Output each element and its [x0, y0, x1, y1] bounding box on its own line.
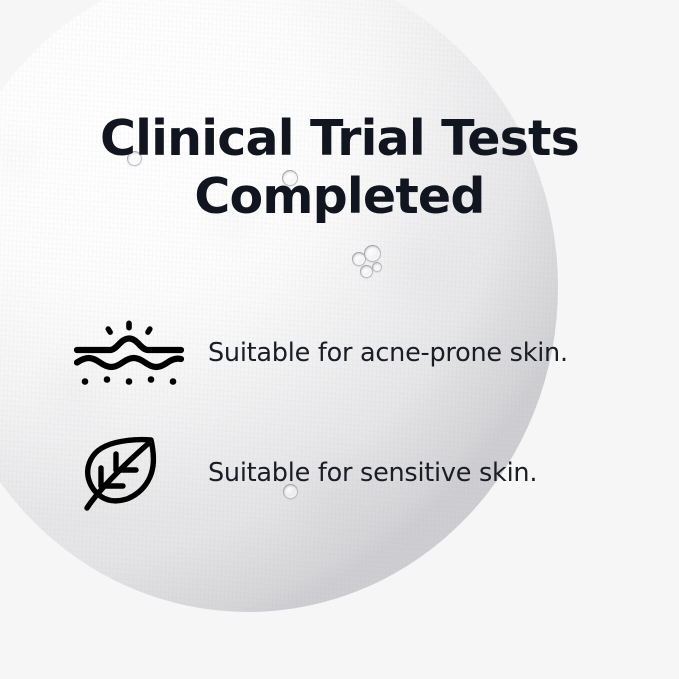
- headline-line-2: Completed: [0, 168, 679, 226]
- feature-label-acne-prone: Suitable for acne-prone skin.: [208, 338, 568, 368]
- skin-waves-icon: [74, 318, 184, 388]
- feature-row-acne-prone: Suitable for acne-prone skin.: [74, 318, 568, 388]
- feature-row-sensitive: Suitable for sensitive skin.: [74, 432, 537, 514]
- headline-line-1: Clinical Trial Tests: [0, 110, 679, 168]
- leaf-icon: [74, 432, 184, 514]
- cotton-pad-shading: [0, 0, 558, 612]
- product-feature-card: Clinical Trial Tests Completed: [0, 0, 679, 679]
- droplet-4: [364, 245, 381, 262]
- feature-label-sensitive: Suitable for sensitive skin.: [208, 458, 537, 488]
- droplet-6: [372, 262, 382, 272]
- page-title: Clinical Trial Tests Completed: [0, 110, 679, 226]
